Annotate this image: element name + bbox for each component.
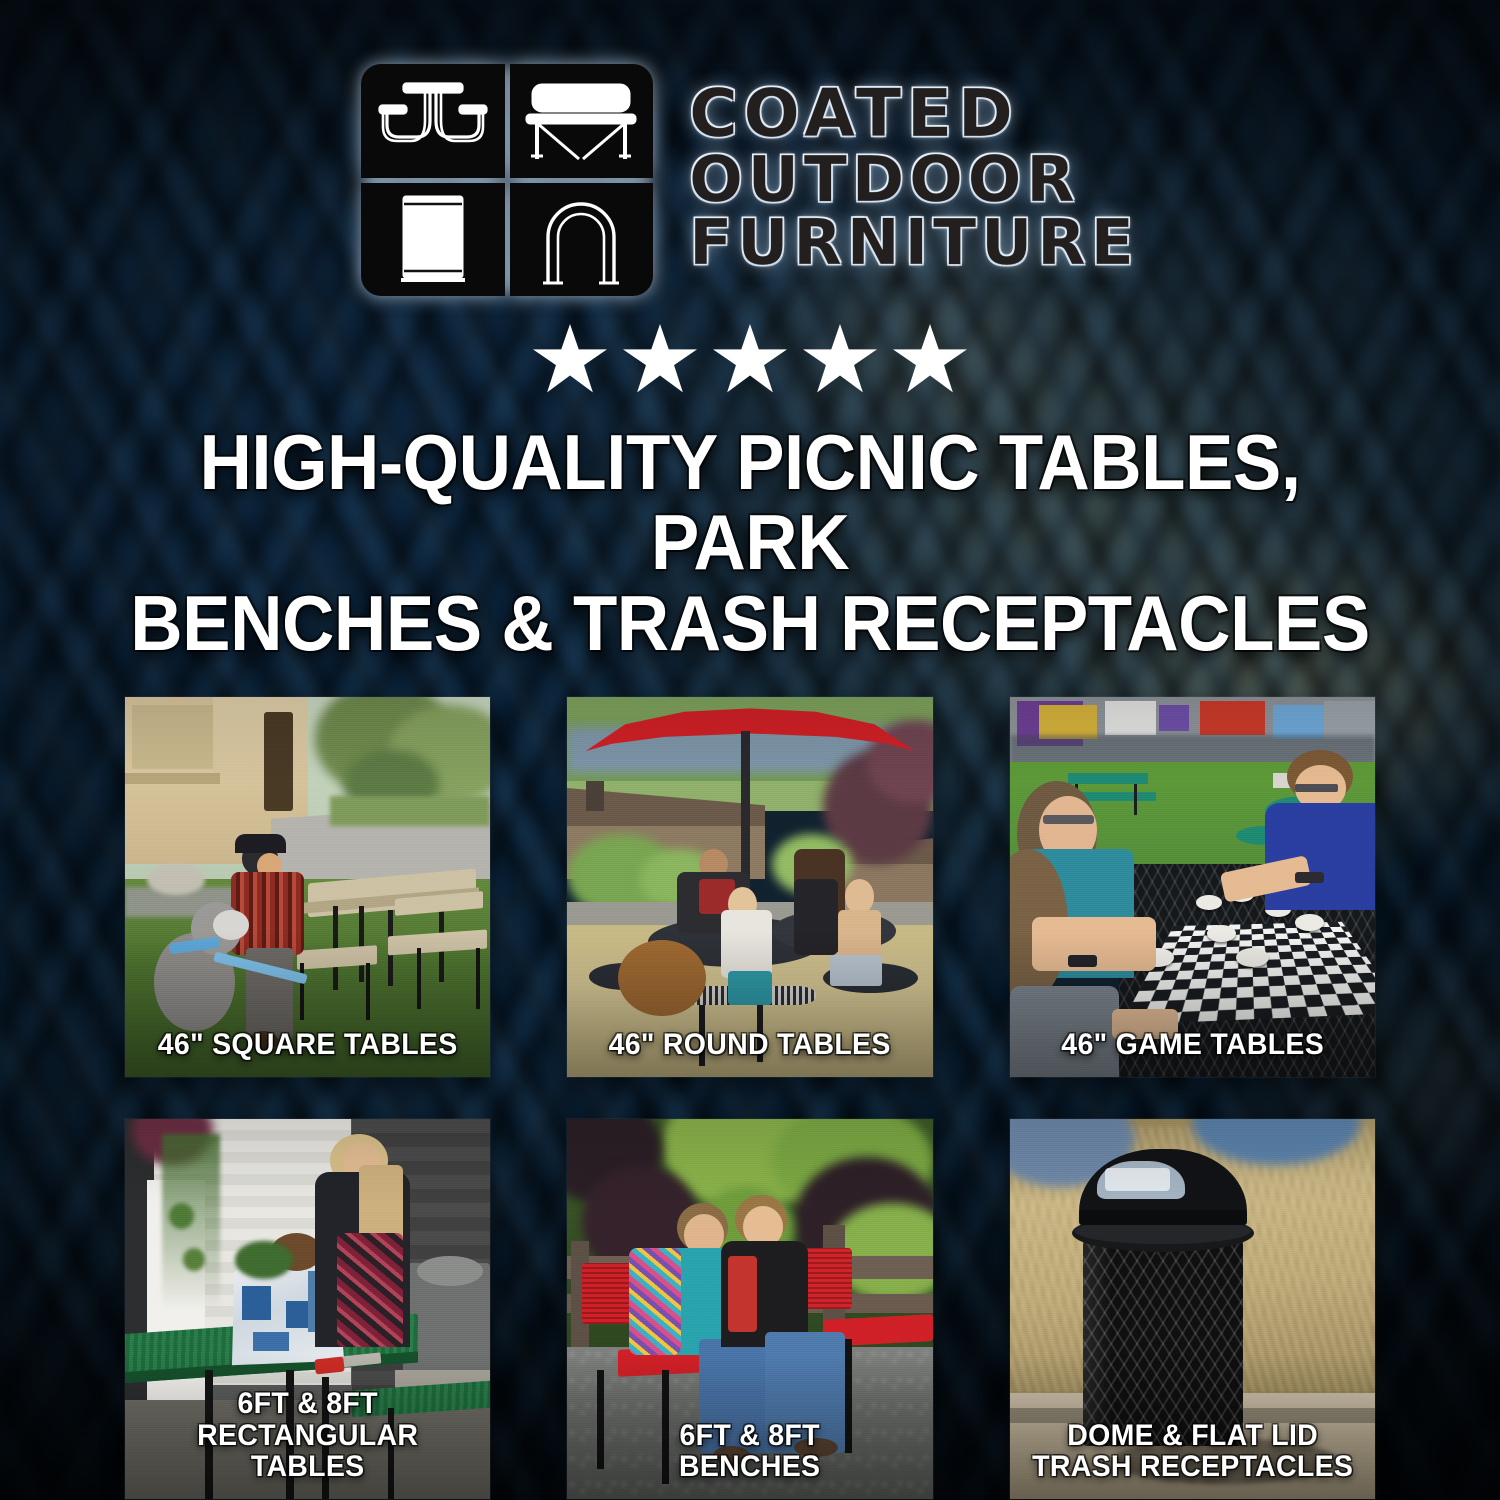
logo-tile-bench [510,64,654,178]
product-tile-game-tables[interactable]: 46" GAME TABLES [1010,697,1375,1077]
caption-line-1: 46" GAME TABLES [1026,1029,1358,1061]
caption-line-1: 46" SQUARE TABLES [142,1029,474,1061]
product-tile-benches[interactable]: 6FT & 8FT BENCHES [567,1119,932,1499]
headline-line-2: BENCHES & TRASH RECEPTACLES [118,583,1383,663]
star-icon [623,324,697,396]
bike-rack-arch-icon [538,191,624,287]
caption-line-2: BENCHES [584,1451,916,1483]
star-icon [533,324,607,396]
product-grid: 46" SQUARE TABLES [125,697,1375,1499]
brand-header: COATED OUTDOOR FURNITURE [0,0,1500,296]
star-icon [713,324,787,396]
tile-caption: 46" GAME TABLES [1010,1029,1375,1061]
caption-line-1: 6FT & 8FT [142,1388,474,1420]
brand-logo-mark [361,64,653,296]
headline: HIGH-QUALITY PICNIC TABLES, PARK BENCHES… [0,422,1500,663]
star-rating [0,324,1500,396]
picnic-table-icon [377,75,489,167]
brand-name-line-3: FURNITURE [689,212,1139,274]
product-tile-trash-receptacles[interactable]: DOME & FLAT LID TRASH RECEPTACLES [1010,1119,1375,1499]
caption-line-1: DOME & FLAT LID [1026,1420,1358,1452]
tile-caption: 46" ROUND TABLES [567,1029,932,1061]
brand-name-line-2: OUTDOOR [689,149,1139,211]
product-photo-round-tables [567,697,932,1077]
bench-icon [523,77,639,165]
logo-tile-trash-receptacle [361,183,505,297]
product-tile-square-tables[interactable]: 46" SQUARE TABLES [125,697,490,1077]
product-photo-game-tables [1010,697,1375,1077]
tile-caption: 6FT & 8FT RECTANGULAR TABLES [125,1388,490,1483]
product-photo-square-tables [125,697,490,1077]
caption-line-1: 46" ROUND TABLES [584,1029,916,1061]
star-icon [803,324,877,396]
brand-name-line-1: COATED [689,82,1139,147]
headline-line-1: HIGH-QUALITY PICNIC TABLES, PARK [118,422,1383,583]
logo-tile-picnic-table [361,64,505,178]
logo-tile-bike-rack-arch [510,183,654,297]
tile-caption: 46" SQUARE TABLES [125,1029,490,1061]
tile-caption: 6FT & 8FT BENCHES [567,1420,932,1483]
product-tile-round-tables[interactable]: 46" ROUND TABLES [567,697,932,1077]
caption-line-1: 6FT & 8FT [584,1420,916,1452]
promotional-poster: COATED OUTDOOR FURNITURE HIGH-QUALITY PI… [0,0,1500,1500]
product-tile-rectangular-tables[interactable]: 6FT & 8FT RECTANGULAR TABLES [125,1119,490,1499]
tile-caption: DOME & FLAT LID TRASH RECEPTACLES [1010,1420,1375,1483]
caption-line-2: TRASH RECEPTACLES [1026,1451,1358,1483]
caption-line-2: RECTANGULAR TABLES [142,1420,474,1483]
brand-wordmark: COATED OUTDOOR FURNITURE [689,82,1139,278]
star-icon [893,324,967,396]
trash-receptacle-icon [398,191,468,287]
